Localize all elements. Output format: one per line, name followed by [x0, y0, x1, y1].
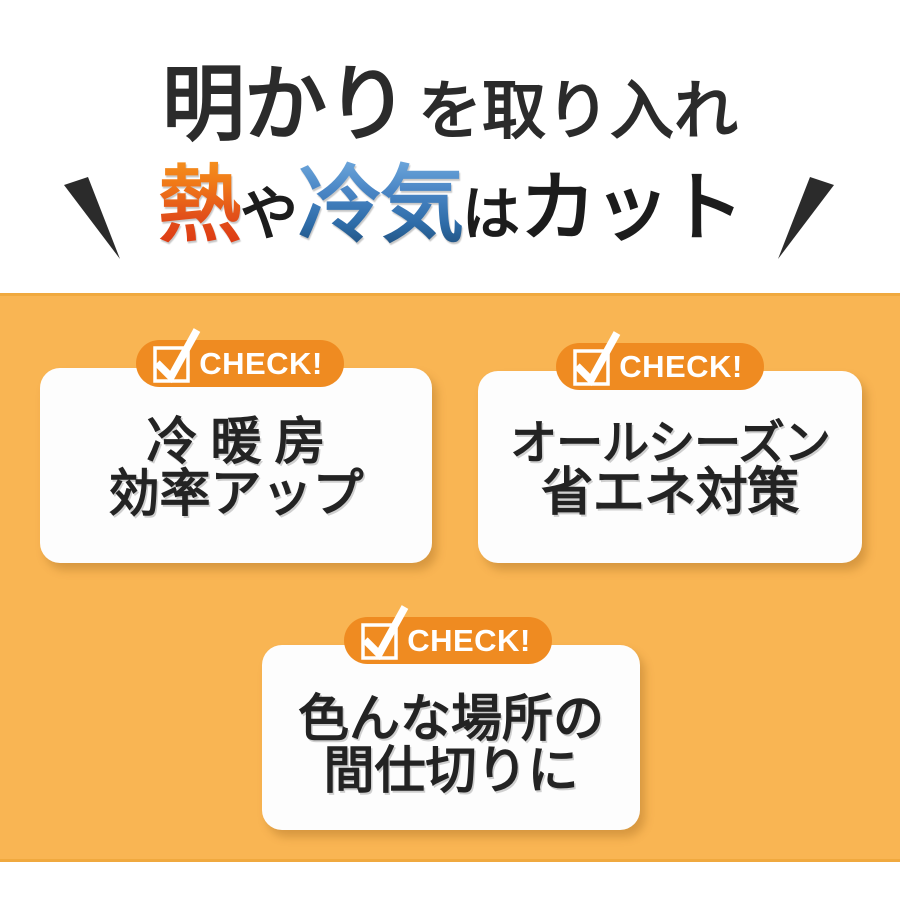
feature-card-text: オールシーズン 省エネ対策 [478, 419, 862, 520]
check-badge-label: CHECK! [407, 625, 531, 656]
feature-card-cooling-heating[interactable]: CHECK! 冷暖房 効率アップ [40, 368, 432, 563]
check-badge-label: CHECK! [619, 351, 743, 382]
feature-card-line-2: 省エネ対策 [478, 467, 862, 520]
checkbox-check-icon [573, 343, 617, 390]
checkbox-check-icon [361, 617, 405, 664]
cold-word-text: 冷気 [298, 158, 462, 252]
headline-rest-text: を取り入れ [418, 75, 738, 147]
cut-word-text: カット [520, 166, 742, 251]
feature-card-all-season[interactable]: CHECK! オールシーズン 省エネ対策 [478, 371, 862, 563]
feature-card-text: 色んな場所の 間仕切りに [262, 693, 640, 797]
feature-card-line-1: オールシーズン [478, 419, 862, 467]
check-badge-label: CHECK! [199, 348, 323, 379]
feature-card-line-1: 冷暖房 [40, 416, 432, 468]
headline-line-2: 熱や冷気はカット [0, 163, 900, 263]
feature-card-line-1: 色んな場所の [262, 693, 640, 745]
check-badge: CHECK! [136, 340, 344, 387]
check-badge: CHECK! [556, 343, 764, 390]
feature-card-room-divider[interactable]: CHECK! 色んな場所の 間仕切りに [262, 645, 640, 830]
check-badge: CHECK! [344, 617, 552, 664]
headline-line-2-text: 熱や冷気はカット [0, 163, 900, 247]
feature-card-line-2: 効率アップ [40, 468, 432, 520]
headline-emphasis-text: 明かり [162, 58, 408, 151]
headline-line-1: 明かりを取り入れ [0, 63, 900, 146]
hot-word-text: 熱 [158, 158, 240, 252]
headline-section: 明かりを取り入れ 熱や冷気はカット [0, 0, 900, 293]
particle-wa-text: は [462, 182, 520, 247]
particle-ya-text: や [240, 182, 298, 247]
features-panel: CHECK! 冷暖房 効率アップ CHECK! オールシーズン 省エネ対策 [0, 293, 900, 862]
feature-card-line-2: 間仕切りに [262, 745, 640, 797]
feature-card-text: 冷暖房 効率アップ [40, 416, 432, 520]
right-wedge-mark-icon [776, 171, 836, 263]
checkbox-check-icon [153, 340, 197, 387]
